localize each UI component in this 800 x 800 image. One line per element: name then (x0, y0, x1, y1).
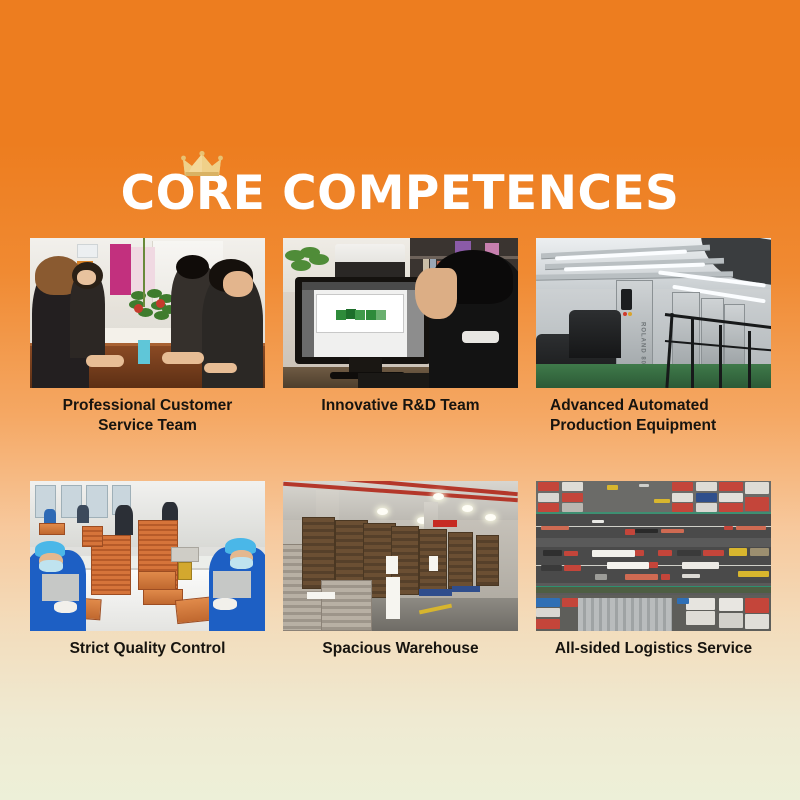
caption-line-1: Professional Customer (30, 396, 265, 416)
caption-line-1: Spacious Warehouse (283, 639, 518, 659)
card-caption: Innovative R&D Team (283, 396, 518, 416)
designer-at-computer-photo (283, 238, 518, 388)
crown-icon (181, 150, 223, 180)
caption-line-1: All-sided Logistics Service (536, 639, 771, 659)
card-spacious-warehouse[interactable]: Spacious Warehouse (283, 481, 518, 659)
page-header: CORE COMPETENCES (0, 148, 800, 217)
printing-press-factory-photo: ROLAND 800 (536, 238, 771, 388)
warehouse-stacked-pallets-photo (283, 481, 518, 631)
card-strict-quality-control[interactable]: Strict Quality Control (30, 481, 265, 659)
aerial-container-port-photo (536, 481, 771, 631)
card-caption: Spacious Warehouse (283, 639, 518, 659)
card-all-sided-logistics-service[interactable]: All-sided Logistics Service (536, 481, 771, 659)
caption-line-1: Strict Quality Control (30, 639, 265, 659)
caption-line-1: Innovative R&D Team (283, 396, 518, 416)
card-caption: Strict Quality Control (30, 639, 265, 659)
card-professional-customer-service-team[interactable]: Professional Customer Service Team (30, 238, 265, 436)
caption-line-2: Service Team (30, 416, 265, 436)
caption-line-1: Advanced Automated (550, 396, 771, 416)
card-advanced-automated-production-equipment[interactable]: ROLAND 800 Advanced Automated Production… (536, 238, 771, 436)
competences-grid: Professional Customer Service Team (30, 238, 770, 658)
card-innovative-rd-team[interactable]: Innovative R&D Team (283, 238, 518, 436)
caption-line-2: Production Equipment (550, 416, 771, 436)
card-caption: Professional Customer Service Team (30, 396, 265, 436)
card-caption: All-sided Logistics Service (536, 639, 771, 659)
office-meeting-room-photo (30, 238, 265, 388)
quality-inspection-workers-photo (30, 481, 265, 631)
card-caption: Advanced Automated Production Equipment (536, 396, 771, 436)
